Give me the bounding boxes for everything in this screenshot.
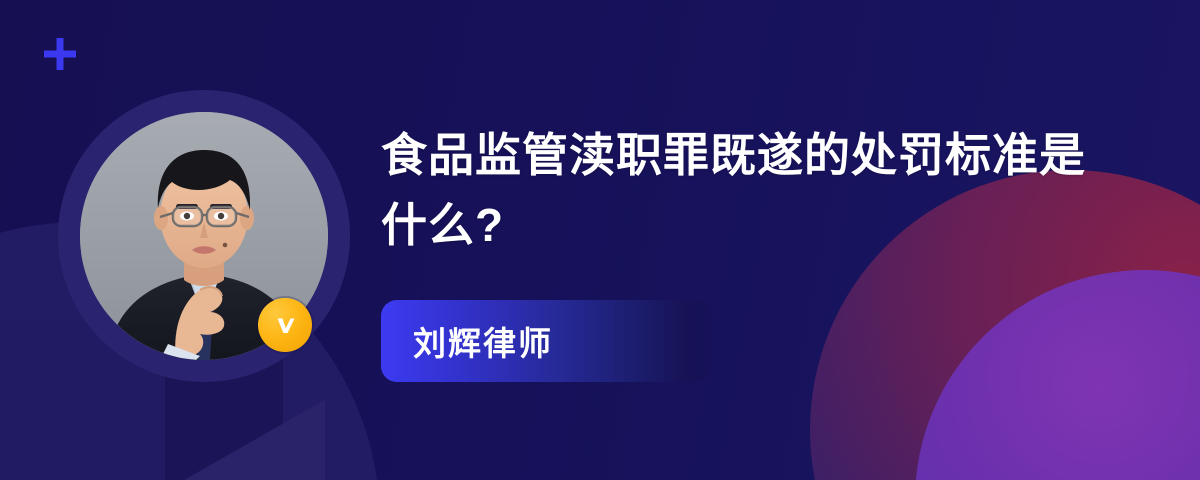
verified-badge <box>258 298 312 352</box>
headline-block: 食品监管渎职罪既遂的处罚标准是什么? <box>381 120 1101 260</box>
plus-icon <box>42 36 78 72</box>
verified-check-icon <box>269 309 301 341</box>
page-title: 食品监管渎职罪既遂的处罚标准是什么? <box>381 120 1101 260</box>
lawyer-name-button[interactable]: 刘辉律师 <box>381 300 711 382</box>
decorative-blob-violet <box>915 270 1200 480</box>
decorative-triangle-wedge <box>185 400 325 480</box>
avatar[interactable] <box>58 90 350 382</box>
promo-banner: 食品监管渎职罪既遂的处罚标准是什么? 刘辉律师 <box>0 0 1200 480</box>
